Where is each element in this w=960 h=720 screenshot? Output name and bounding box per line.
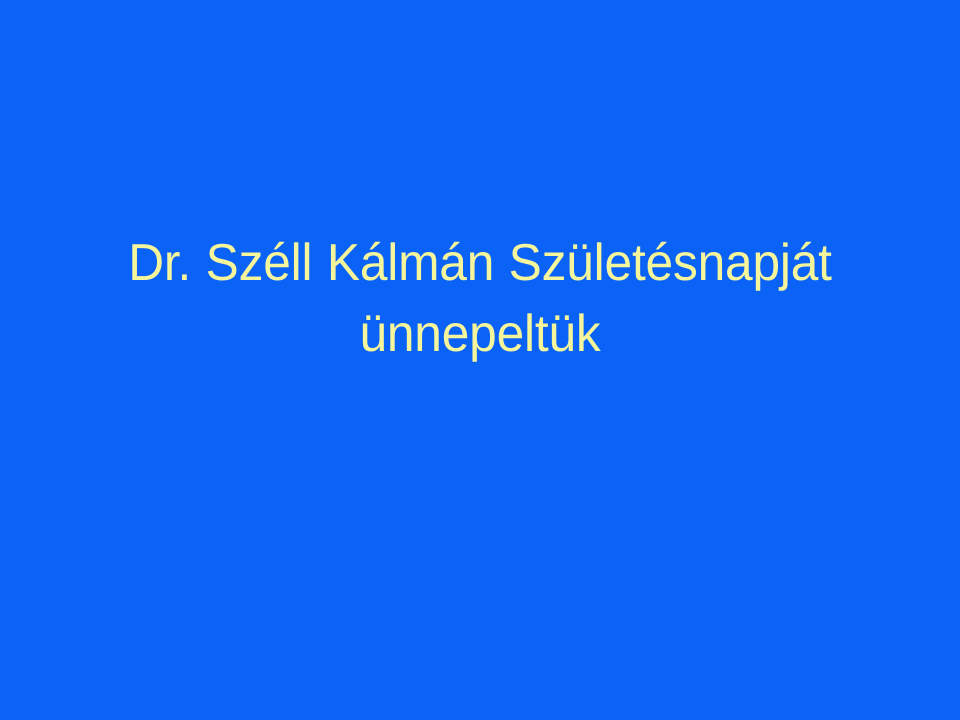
slide-title: Dr. Széll Kálmán Születésnapját ünnepelt… [79, 228, 881, 370]
presentation-slide: Dr. Széll Kálmán Születésnapját ünnepelt… [0, 0, 960, 720]
slide-title-block: Dr. Széll Kálmán Születésnapját ünnepelt… [60, 228, 900, 370]
